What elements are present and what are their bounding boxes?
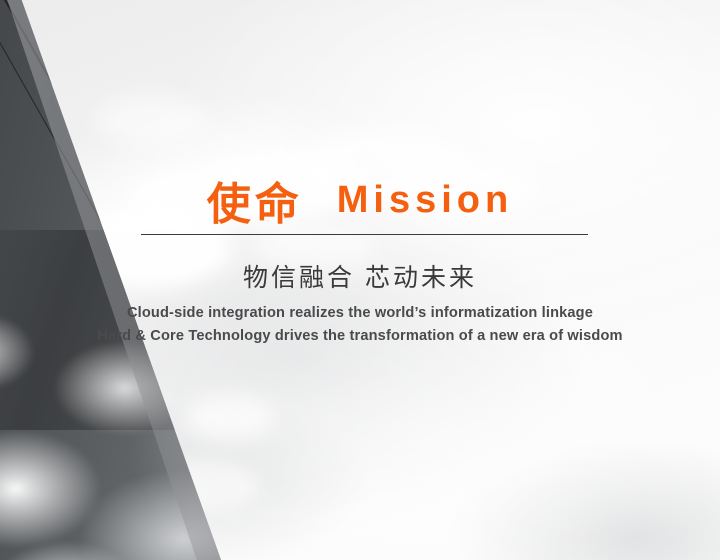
- title-divider: [141, 234, 588, 235]
- description-line-1: Cloud-side integration realizes the worl…: [0, 302, 720, 325]
- subtitle-chinese: 物信融合 芯动未来: [0, 258, 720, 294]
- banner-content: 使命Mission 物信融合 芯动未来 Cloud-side integrati…: [0, 0, 720, 560]
- description-block: Cloud-side integration realizes the worl…: [0, 302, 720, 348]
- description-line-2: Hard & Core Technology drives the transf…: [0, 325, 720, 348]
- title-chinese: 使命: [207, 180, 303, 229]
- mission-banner: 使命Mission 物信融合 芯动未来 Cloud-side integrati…: [0, 0, 720, 560]
- page-title: 使命Mission: [0, 168, 720, 232]
- title-english: Mission: [337, 179, 513, 221]
